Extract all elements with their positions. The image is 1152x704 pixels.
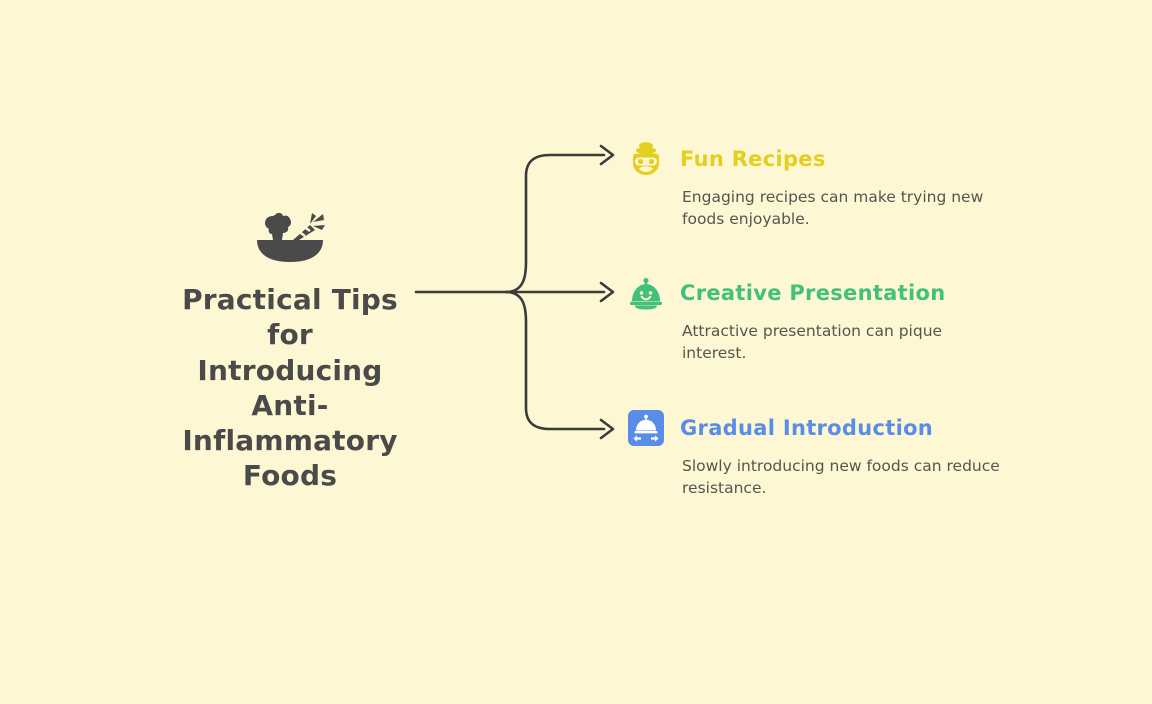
salad-bowl-icon [253,200,327,262]
branch-title: Gradual Introduction [680,416,933,440]
chef-face-icon [628,141,664,177]
connector-branch-0 [506,155,604,292]
branch-description: Engaging recipes can make trying new foo… [682,186,1002,231]
smiling-cloche-icon [628,275,664,311]
root-node[interactable]: Practical Tips for Introducing Anti-Infl… [170,200,410,494]
mindmap-canvas: Practical Tips for Introducing Anti-Infl… [0,0,1152,704]
branch-title: Creative Presentation [680,281,945,305]
branch-description: Attractive presentation can pique intere… [682,320,1002,365]
branch-header: Creative Presentation [628,274,1028,312]
branch-description: Slowly introducing new foods can reduce … [682,455,1002,500]
connector-branch-2 [506,292,604,429]
arrowhead-1 [601,283,613,301]
arrowhead-2 [601,420,613,438]
branch-node-fun-recipes[interactable]: Fun Recipes Engaging recipes can make tr… [628,140,1028,231]
root-title: Practical Tips for Introducing Anti-Infl… [174,282,406,494]
arrowhead-0 [601,146,613,164]
branch-header: Fun Recipes [628,140,1028,178]
branch-header: Gradual Introduction [628,409,1028,447]
branch-node-creative-presentation[interactable]: Creative Presentation Attractive present… [628,274,1028,365]
branch-node-gradual-introduction[interactable]: Gradual Introduction Slowly introducing … [628,409,1028,500]
branch-title: Fun Recipes [680,147,826,171]
cloche-with-arrows-icon [628,410,664,446]
